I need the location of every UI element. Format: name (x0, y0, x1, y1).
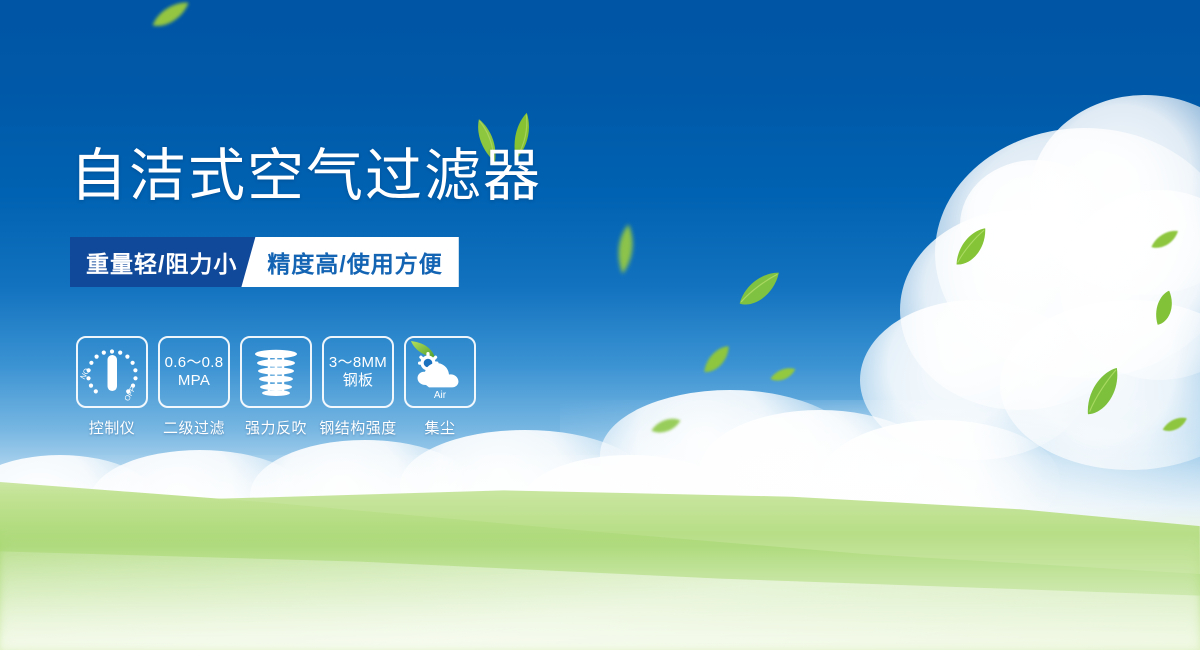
air-cloud-icon: Air (404, 336, 476, 408)
svg-text:Air: Air (434, 390, 447, 401)
floating-leaf (1161, 415, 1189, 434)
feature-list: NO OFF 控制仪 0.6～0.8 MPA 二级过滤 (76, 336, 476, 438)
feature-icon-text: 3～8MM 钢板 (329, 354, 387, 390)
cloud-shape (700, 410, 940, 530)
floating-leaf (769, 366, 797, 383)
control-dial-icon: NO OFF (76, 336, 148, 408)
cloud-shape (250, 440, 480, 550)
feature-label: 强力反吹 (245, 417, 307, 438)
horizon-haze (560, 400, 1200, 550)
steel-plate-text-icon: 3～8MM 钢板 (322, 336, 394, 408)
floating-leaf (1148, 228, 1181, 252)
floating-leaf (697, 343, 736, 377)
cloud-shape (1000, 300, 1200, 470)
floating-leaf (148, 0, 195, 33)
svg-text:OFF: OFF (122, 385, 137, 403)
promo-banner: 自洁式空气过滤器 重量轻/阻力小 精度高/使用方便 (0, 0, 1200, 650)
cloud-shape (90, 450, 310, 550)
feature-label: 集尘 (424, 417, 455, 438)
cloud-shape (1060, 190, 1200, 380)
feature-label: 控制仪 (89, 417, 136, 438)
cloud-shape (1030, 95, 1200, 295)
cloud-shape (0, 455, 160, 555)
subtitle-bar: 重量轻/阻力小 精度高/使用方便 (70, 237, 459, 287)
cloud-shape (900, 210, 1140, 410)
feature-item[interactable]: 0.6～0.8 MPA 二级过滤 (158, 336, 230, 438)
floating-leaf (946, 225, 997, 271)
floating-leaf (1146, 289, 1184, 329)
feature-icon-text: 0.6～0.8 MPA (165, 354, 224, 390)
subtitle-left-panel: 重量轻/阻力小 (70, 237, 255, 287)
cloud-shape (600, 390, 860, 520)
cloud-shape (935, 128, 1200, 378)
subtitle-right-panel: 精度高/使用方便 (241, 237, 458, 287)
horizon-haze (0, 455, 1200, 595)
filter-stack-icon (240, 336, 312, 408)
feature-item[interactable]: 强力反吹 (240, 336, 312, 438)
hill-background (0, 440, 1200, 650)
floating-leaf (733, 269, 787, 311)
page-title: 自洁式空气过滤器 (70, 145, 542, 207)
cloud-shape (860, 300, 1090, 460)
feature-item[interactable]: NO OFF 控制仪 (76, 336, 148, 438)
floating-leaf (650, 416, 682, 435)
feature-item[interactable]: 3～8MM 钢板 钢结构强度 (322, 336, 394, 438)
feature-item[interactable]: Air 集尘 (404, 336, 476, 438)
pressure-text-icon: 0.6～0.8 MPA (158, 336, 230, 408)
cloud-shape (400, 430, 650, 540)
hill-highlight (0, 480, 1200, 650)
ground-glow (0, 530, 1200, 650)
cloud-shape (520, 455, 740, 555)
cloud-shape (960, 160, 1110, 290)
hill-foreground (0, 450, 1200, 650)
floating-leaf (1074, 365, 1133, 421)
feature-label: 钢结构强度 (319, 417, 397, 438)
feature-label: 二级过滤 (163, 417, 225, 438)
cloud-shape (820, 420, 1060, 540)
floating-leaf (611, 223, 640, 276)
